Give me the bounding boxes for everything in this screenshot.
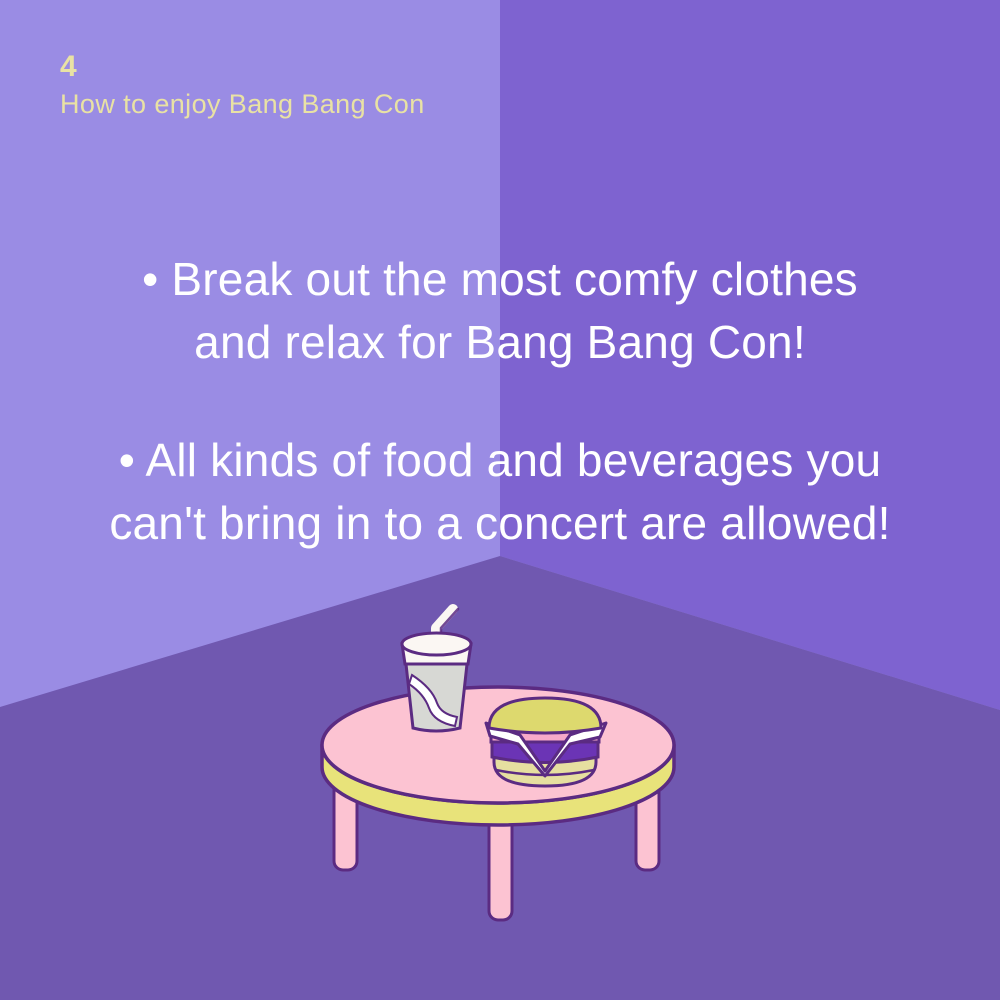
slide-number: 4 xyxy=(60,52,760,82)
page-title: How to enjoy Bang Bang Con xyxy=(60,88,760,122)
bullet-item-2: • All kinds of food and beverages you ca… xyxy=(50,429,950,554)
header-block: 4 How to enjoy Bang Bang Con xyxy=(60,52,760,122)
bullet-item-1: • Break out the most comfy clothes and r… xyxy=(50,248,950,373)
burger-top-bun xyxy=(489,698,601,733)
bullet-list: • Break out the most comfy clothes and r… xyxy=(50,248,950,554)
cup-lid-top xyxy=(402,633,471,655)
slide-canvas: 4 How to enjoy Bang Bang Con • Break out… xyxy=(0,0,1000,1000)
hamburger xyxy=(486,698,606,786)
